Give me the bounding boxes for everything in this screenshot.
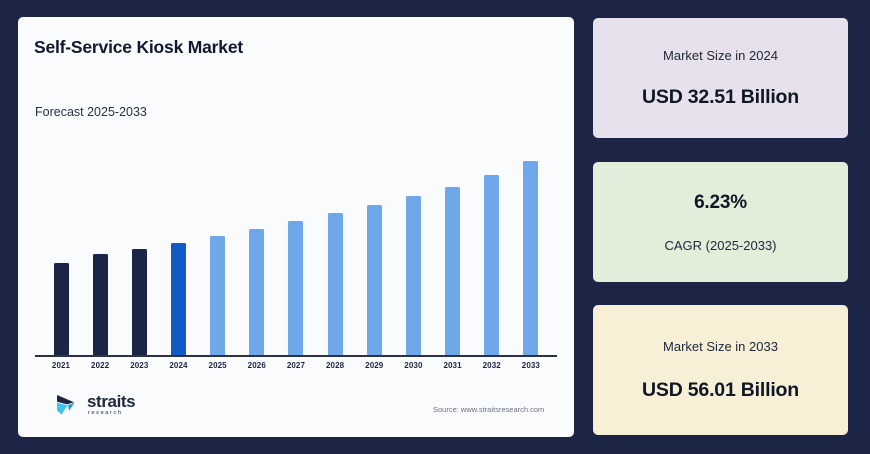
bar-chart: 2021202220232024202520262027202820292030…: [35, 135, 557, 357]
bar-2030: [406, 196, 421, 357]
bar-slot: [43, 137, 79, 357]
chart-panel: Self-Service Kiosk Market Forecast 2025-…: [18, 17, 574, 437]
bar-2033: [523, 161, 538, 357]
bar-slot: [513, 137, 549, 357]
logo-text: straits research: [87, 393, 135, 417]
bar-2028: [328, 213, 343, 357]
bar-slot: [317, 137, 353, 357]
bar-2032: [484, 175, 499, 357]
bar-2023: [132, 249, 147, 358]
stat-label: Market Size in 2033: [663, 339, 778, 354]
x-tick-2027: 2027: [278, 361, 314, 370]
bar-slot: [278, 137, 314, 357]
bar-2021: [54, 263, 69, 357]
page-title: Self-Service Kiosk Market: [34, 37, 243, 58]
bar-2029: [367, 205, 382, 357]
bar-2026: [249, 229, 264, 357]
x-tick-2033: 2033: [513, 361, 549, 370]
bar-series: [35, 137, 557, 357]
logo-wordmark: straits: [87, 393, 135, 410]
x-tick-2025: 2025: [200, 361, 236, 370]
stat-value: USD 32.51 Billion: [642, 86, 799, 109]
x-tick-2022: 2022: [82, 361, 118, 370]
straits-research-logo: straits research: [56, 392, 135, 418]
bar-2025: [210, 236, 225, 357]
bar-slot: [82, 137, 118, 357]
x-tick-2032: 2032: [474, 361, 510, 370]
stat-value: 6.23%: [694, 192, 747, 214]
logo-subtitle: research: [88, 411, 135, 417]
bar-slot: [160, 137, 196, 357]
stat-label: CAGR (2025-2033): [665, 238, 777, 253]
bar-slot: [239, 137, 275, 357]
x-axis-line: [35, 355, 557, 357]
stat-card-market-size-2033: Market Size in 2033 USD 56.01 Billion: [593, 305, 848, 435]
bar-2024: [171, 243, 186, 357]
stat-card-market-size-2024: Market Size in 2024 USD 32.51 Billion: [593, 18, 848, 138]
infographic-page: Self-Service Kiosk Market Forecast 2025-…: [0, 0, 870, 454]
x-tick-2026: 2026: [239, 361, 275, 370]
x-tick-2029: 2029: [356, 361, 392, 370]
bar-2027: [288, 221, 303, 357]
bar-slot: [474, 137, 510, 357]
bar-slot: [435, 137, 471, 357]
bar-slot: [395, 137, 431, 357]
bar-2022: [93, 254, 108, 357]
x-tick-2021: 2021: [43, 361, 79, 370]
stat-value: USD 56.01 Billion: [642, 379, 799, 402]
x-tick-2030: 2030: [395, 361, 431, 370]
x-tick-2031: 2031: [435, 361, 471, 370]
x-tick-2023: 2023: [121, 361, 157, 370]
x-axis-tick-labels: 2021202220232024202520262027202820292030…: [35, 361, 557, 370]
chart-subtitle: Forecast 2025-2033: [35, 105, 147, 119]
stat-label: Market Size in 2024: [663, 48, 778, 63]
straits-arrow-logo-icon: [56, 392, 82, 418]
stat-card-cagr: 6.23% CAGR (2025-2033): [593, 162, 848, 282]
bar-2031: [445, 187, 460, 357]
bar-slot: [200, 137, 236, 357]
bar-slot: [356, 137, 392, 357]
x-tick-2024: 2024: [160, 361, 196, 370]
source-attribution: Source: www.straitsresearch.com: [433, 405, 544, 414]
bar-slot: [121, 137, 157, 357]
x-tick-2028: 2028: [317, 361, 353, 370]
